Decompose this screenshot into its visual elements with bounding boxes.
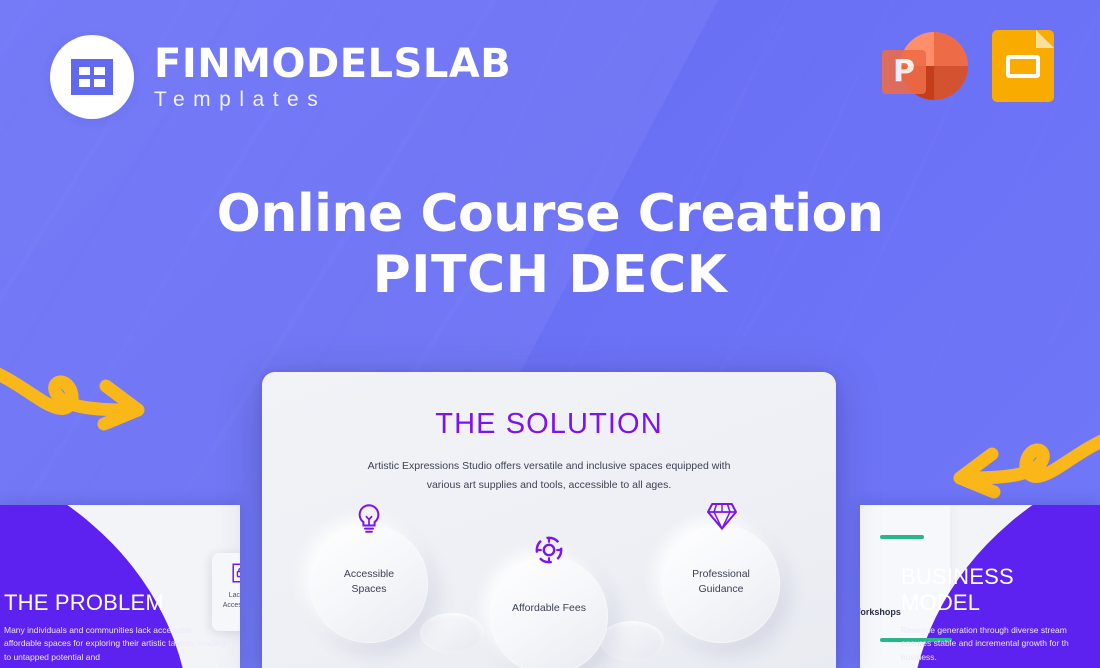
powerpoint-tile: P [882, 50, 926, 94]
bubble-connector [600, 621, 664, 661]
page-title-line2: PITCH DECK [0, 243, 1100, 308]
solution-item-accessible-spaces[interactable]: Accessible Spaces [310, 501, 428, 661]
document-lock-icon [232, 563, 241, 583]
solution-item-label: Affordable Fees [484, 601, 614, 616]
page-title-line1: Online Course Creation [0, 185, 1100, 243]
logo-text: FINMODELSLAB Templates [154, 44, 511, 110]
grid-window-icon [71, 59, 113, 95]
problem-body: Many individuals and communities lack ac… [4, 624, 229, 665]
slides-screen-shape [1006, 55, 1040, 78]
business-body: Revenue generation through diverse strea… [901, 624, 1096, 665]
squiggly-arrow-left-icon [925, 420, 1100, 515]
problem-title: THE PROBLEM [4, 590, 229, 616]
logo-mark [50, 35, 134, 119]
slide-preview-the-solution[interactable]: THE SOLUTION Artistic Expressions Studio… [262, 372, 836, 668]
format-icons: P [878, 22, 1068, 110]
grid-cell [94, 79, 105, 87]
grid-cell [79, 79, 90, 87]
brand-logo[interactable]: FINMODELSLAB Templates [50, 35, 511, 119]
slide-preview-the-problem[interactable]: Lack of Accessibilit THE PROBLEM Many in… [0, 505, 240, 668]
solution-item-professional-guidance[interactable]: Professional Guidance [662, 501, 780, 661]
solution-item-label: Accessible Spaces [310, 567, 428, 597]
solution-label-line2: Spaces [310, 582, 428, 597]
chart-bar [880, 535, 924, 539]
logo-wordmark: FINMODELSLAB [154, 44, 511, 84]
bubble-connector [420, 613, 484, 653]
business-title-line1: BUSINESS [901, 564, 1096, 590]
powerpoint-icon[interactable]: P [878, 22, 966, 110]
business-title-line2: MODEL [901, 590, 1096, 616]
grid-cell [94, 67, 105, 75]
solution-label-line2: Guidance [662, 582, 780, 597]
powerpoint-letter: P [893, 57, 915, 87]
diamond-gem-icon [706, 501, 738, 531]
page-title: Online Course Creation PITCH DECK [0, 185, 1100, 308]
solution-description: Artistic Expressions Studio offers versa… [353, 457, 745, 495]
solution-items: Accessible Spaces Affordable Fees [262, 501, 836, 661]
lightbulb-icon [354, 503, 384, 537]
problem-text-block: THE PROBLEM Many individuals and communi… [4, 590, 229, 665]
solution-label-line1: Professional [662, 567, 780, 582]
squiggly-arrow-right-icon [0, 352, 173, 447]
solution-title: THE SOLUTION [262, 408, 836, 441]
slide-preview-business-model[interactable]: Workshops BUSINESS MODEL Revenue generat… [860, 505, 1100, 668]
business-text-block: BUSINESS MODEL Revenue generation throug… [901, 564, 1096, 665]
solution-item-affordable-fees[interactable]: Affordable Fees [490, 501, 608, 661]
donut-target-icon [534, 535, 564, 565]
solution-item-label: Professional Guidance [662, 567, 780, 597]
solution-label-line1: Accessible [310, 567, 428, 582]
solution-label-line1: Affordable Fees [484, 601, 614, 616]
logo-subtitle: Templates [154, 89, 511, 110]
google-slides-icon[interactable] [980, 22, 1068, 110]
grid-cell [79, 67, 90, 75]
